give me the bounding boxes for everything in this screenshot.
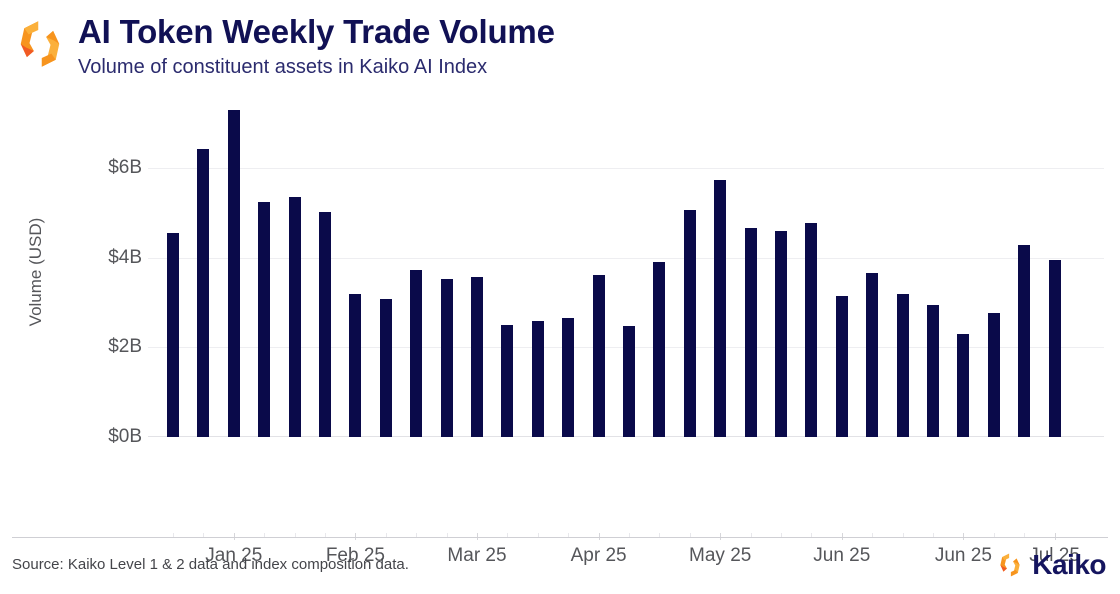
bar [775, 231, 787, 437]
x-axis-tick-label: Jun 25 [813, 545, 870, 567]
x-axis-tick-label: Mar 25 [447, 545, 506, 567]
footer-brand: Kaiko [996, 549, 1106, 581]
bar [197, 149, 209, 438]
x-axis-tick-label: Jun 25 [935, 545, 992, 567]
y-axis-tick-label: $6B [56, 157, 142, 179]
kaiko-hexagon-logo-icon [12, 16, 68, 72]
bar [988, 313, 1000, 437]
bar [562, 318, 574, 437]
bar [349, 294, 361, 437]
y-axis-ticks: $0B$2B$4B$6B [0, 96, 142, 496]
bar [319, 212, 331, 437]
bar [258, 202, 270, 437]
bar [532, 321, 544, 437]
x-axis-tick-label: Apr 25 [571, 545, 627, 567]
bar-series [148, 96, 1104, 437]
footer-wordmark: Kaiko [1032, 549, 1106, 581]
bar [684, 210, 696, 437]
bar [593, 275, 605, 437]
bar [957, 334, 969, 437]
chart-header: AI Token Weekly Trade Volume Volume of c… [0, 0, 1120, 96]
bar [653, 262, 665, 437]
bar [1049, 260, 1061, 437]
bar [501, 325, 513, 437]
bar [471, 277, 483, 437]
bar [866, 273, 878, 437]
title-block: AI Token Weekly Trade Volume Volume of c… [78, 12, 555, 80]
bar [410, 270, 422, 437]
y-axis-tick-label: $2B [56, 336, 142, 358]
bar [289, 197, 301, 437]
bar [714, 180, 726, 437]
bar [380, 299, 392, 437]
x-axis-tick-label: May 25 [689, 545, 751, 567]
bar [897, 294, 909, 437]
chart-plot-area: Volume (USD) $0B$2B$4B$6B Jan 25Feb 25Ma… [0, 96, 1120, 496]
page-subtitle: Volume of constituent assets in Kaiko AI… [78, 54, 555, 80]
bar [927, 305, 939, 437]
bar [228, 110, 240, 437]
y-axis-tick-label: $4B [56, 247, 142, 269]
source-note: Source: Kaiko Level 1 & 2 data and index… [12, 556, 409, 573]
kaiko-hexagon-logo-icon [996, 551, 1024, 579]
bar [167, 233, 179, 437]
bar [836, 296, 848, 437]
bar [745, 228, 757, 437]
bar [623, 326, 635, 437]
bar [805, 223, 817, 437]
y-axis-tick-label: $0B [56, 426, 142, 448]
bar [441, 279, 453, 437]
page-title: AI Token Weekly Trade Volume [78, 12, 555, 52]
bar [1018, 245, 1030, 437]
footer-divider [12, 537, 1108, 538]
